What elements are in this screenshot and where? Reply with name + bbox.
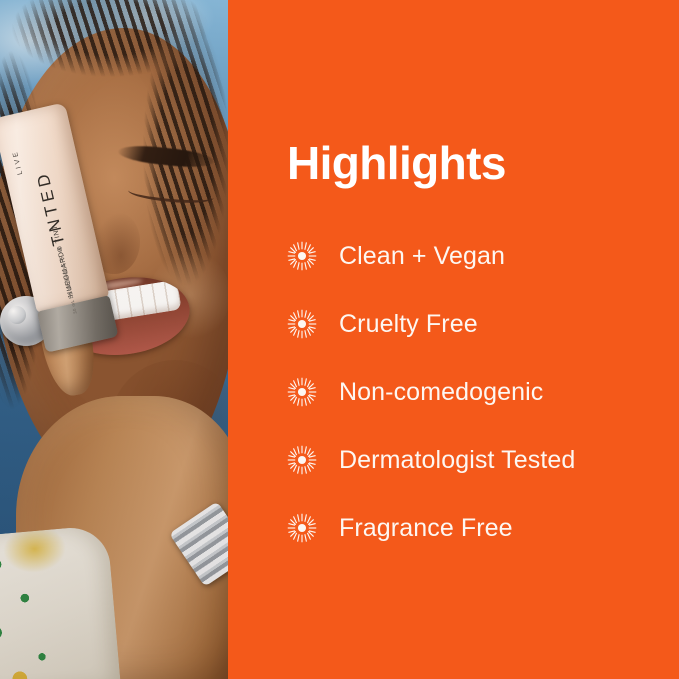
sunburst-icon bbox=[287, 445, 317, 475]
sunburst-icon bbox=[287, 377, 317, 407]
highlights-panel: Highlights bbox=[228, 0, 679, 679]
list-item: Clean + Vegan bbox=[287, 222, 679, 290]
product-lifestyle-photo: TNTED LIVE HUEGUARD® TINT SKIN TINT SPF … bbox=[0, 0, 228, 679]
list-item-label: Dermatologist Tested bbox=[339, 448, 575, 473]
list-item-label: Non-comedogenic bbox=[339, 380, 543, 405]
list-item-label: Cruelty Free bbox=[339, 312, 478, 337]
list-item: Non-comedogenic bbox=[287, 358, 679, 426]
page-title: Highlights bbox=[287, 140, 506, 186]
sunburst-icon bbox=[287, 241, 317, 271]
list-item-label: Clean + Vegan bbox=[339, 244, 505, 269]
list-item: Cruelty Free bbox=[287, 290, 679, 358]
list-item-label: Fragrance Free bbox=[339, 516, 513, 541]
product-highlights-banner: TNTED LIVE HUEGUARD® TINT SKIN TINT SPF … bbox=[0, 0, 679, 679]
sunburst-icon bbox=[287, 309, 317, 339]
list-item: Dermatologist Tested bbox=[287, 426, 679, 494]
patterned-shirt bbox=[0, 525, 121, 679]
highlights-list: Clean + Vegan bbox=[287, 222, 679, 562]
list-item: Fragrance Free bbox=[287, 494, 679, 562]
sunburst-icon bbox=[287, 513, 317, 543]
